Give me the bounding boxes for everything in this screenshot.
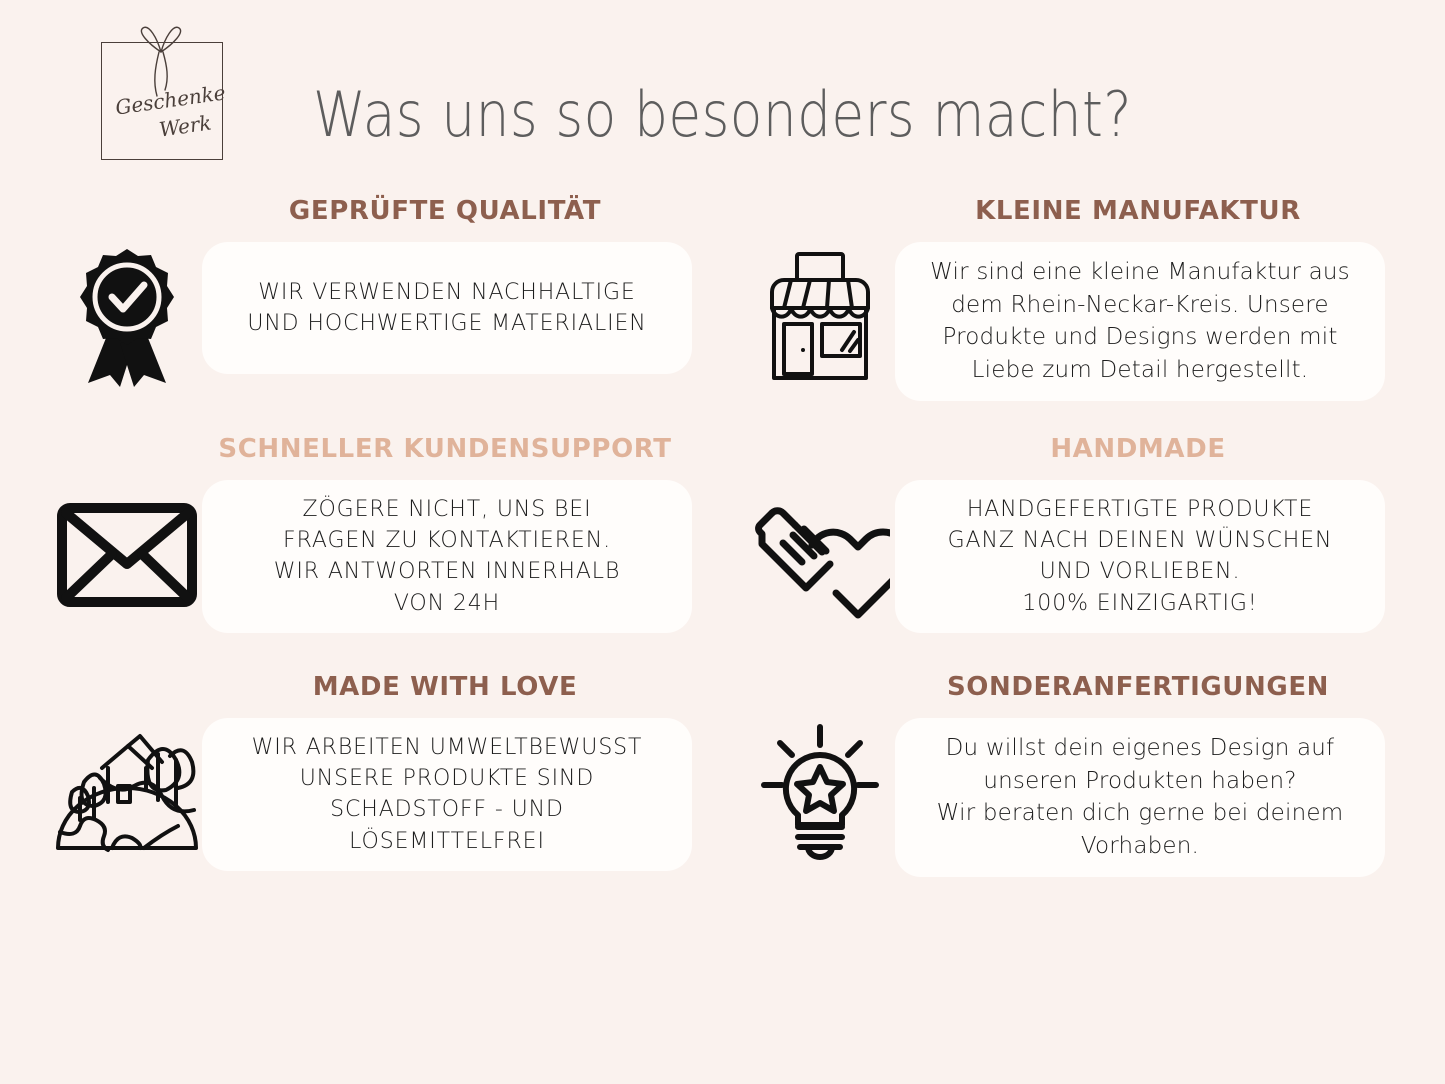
feature-kleine-manufaktur: KLEINE MANUFAKTUR	[735, 196, 1395, 402]
feature-body: Du willst dein eigenes Design auf unsere…	[735, 718, 1395, 878]
feature-card-text: Du willst dein eigenes Design auf unsere…	[937, 732, 1344, 863]
earth-nature-house-icon	[52, 718, 202, 868]
feature-card-text: Wir sind eine kleine Manufaktur aus dem …	[930, 256, 1350, 387]
feature-made-with-love: MADE WITH LOVE	[42, 672, 702, 878]
feature-body: WIR VERWENDEN NACHHALTIGE UND HOCHWERTIG…	[42, 242, 702, 402]
feature-card-text: WIR VERWENDEN NACHHALTIGE UND HOCHWERTIG…	[247, 277, 646, 339]
feature-heading: SCHNELLER KUNDENSUPPORT	[42, 434, 702, 464]
feature-row-1: GEPRÜFTE QUALITÄT WIR VERWENDEN NACHHALT…	[0, 196, 1445, 434]
feature-card: WIR ARBEITEN UMWELTBEWUSST UNSERE PRODUK…	[202, 718, 692, 871]
feature-row-2: SCHNELLER KUNDENSUPPORT ZÖGERE NICHT, UN…	[0, 434, 1445, 672]
envelope-mail-icon	[52, 480, 202, 630]
feature-card: Du willst dein eigenes Design auf unsere…	[895, 718, 1385, 877]
hand-holding-heart-icon	[745, 480, 895, 630]
feature-grid: GEPRÜFTE QUALITÄT WIR VERWENDEN NACHHALT…	[0, 196, 1445, 910]
feature-gepruefte-qualitaet: GEPRÜFTE QUALITÄT WIR VERWENDEN NACHHALT…	[42, 196, 702, 402]
feature-body: HANDGEFERTIGTE PRODUKTE GANZ NACH DEINEN…	[735, 480, 1395, 640]
feature-sonderanfertigungen: SONDERANFERTIGUNGEN Du willst dein eigen…	[735, 672, 1395, 878]
feature-card: Wir sind eine kleine Manufaktur aus dem …	[895, 242, 1385, 401]
page-title: Was uns so besonders macht?	[101, 78, 1344, 151]
feature-handmade: HANDMADE HANDGEFERTIGTE PRODUKTE GANZ NA…	[735, 434, 1395, 640]
feature-body: Wir sind eine kleine Manufaktur aus dem …	[735, 242, 1395, 402]
feature-heading: MADE WITH LOVE	[42, 672, 702, 702]
feature-heading: SONDERANFERTIGUNGEN	[735, 672, 1395, 702]
feature-heading: HANDMADE	[735, 434, 1395, 464]
feature-schneller-kundensupport: SCHNELLER KUNDENSUPPORT ZÖGERE NICHT, UN…	[42, 434, 702, 640]
feature-heading: GEPRÜFTE QUALITÄT	[42, 196, 702, 226]
feature-heading: KLEINE MANUFAKTUR	[735, 196, 1395, 226]
quality-badge-rosette-icon	[52, 242, 202, 392]
feature-body: ZÖGERE NICHT, UNS BEI FRAGEN ZU KONTAKTI…	[42, 480, 702, 640]
feature-body: WIR ARBEITEN UMWELTBEWUSST UNSERE PRODUK…	[42, 718, 702, 878]
feature-card-text: WIR ARBEITEN UMWELTBEWUSST UNSERE PRODUK…	[252, 732, 643, 857]
lightbulb-star-idea-icon	[745, 718, 895, 868]
feature-card: WIR VERWENDEN NACHHALTIGE UND HOCHWERTIG…	[202, 242, 692, 374]
feature-card-text: ZÖGERE NICHT, UNS BEI FRAGEN ZU KONTAKTI…	[274, 494, 621, 619]
feature-row-3: MADE WITH LOVE	[0, 672, 1445, 910]
storefront-shop-icon	[745, 242, 895, 392]
feature-card: ZÖGERE NICHT, UNS BEI FRAGEN ZU KONTAKTI…	[202, 480, 692, 633]
feature-card-text: HANDGEFERTIGTE PRODUKTE GANZ NACH DEINEN…	[948, 494, 1333, 619]
feature-card: HANDGEFERTIGTE PRODUKTE GANZ NACH DEINEN…	[895, 480, 1385, 633]
